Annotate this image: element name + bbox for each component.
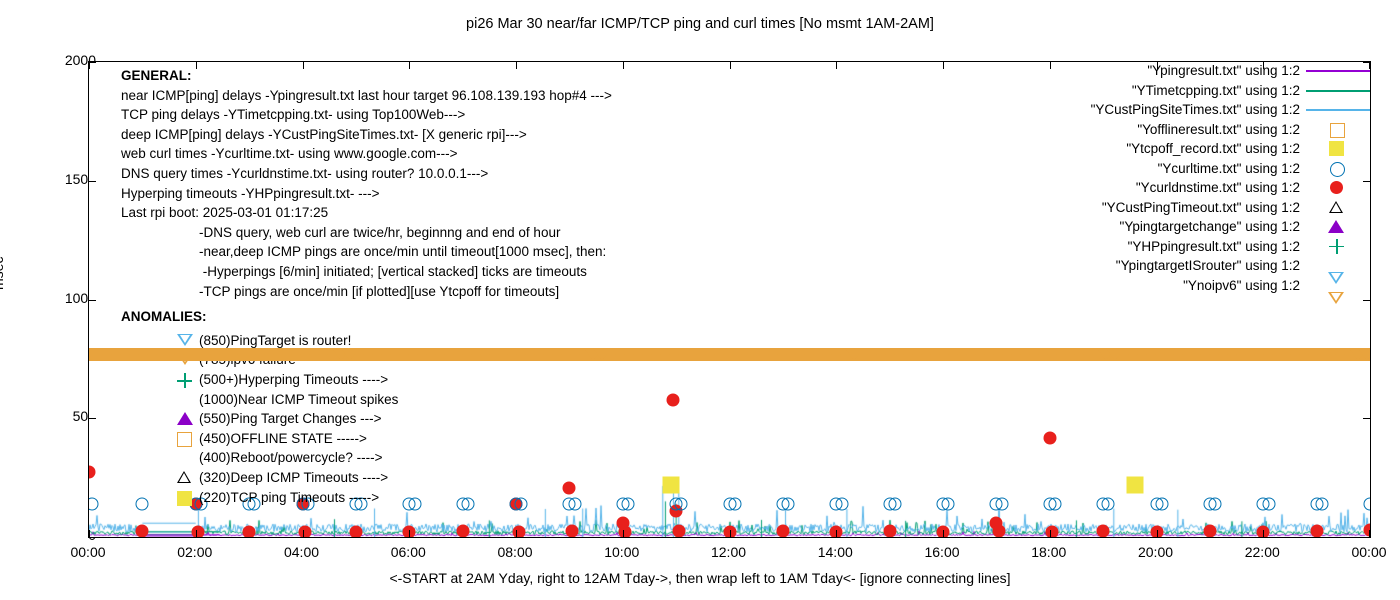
dns-time-point [349,526,362,538]
anomaly-label: (500+)Hyperping Timeouts ----> [199,370,388,390]
general-heading: GENERAL: [121,66,192,86]
curl-time-point [888,497,901,510]
legend-line-icon [1306,90,1370,92]
legend-label: "YpingtargetISrouter" using 1:2 [1116,258,1300,273]
legend-symbol [1300,178,1378,198]
x-tick-mark [303,530,304,537]
curl-time-point [942,497,955,510]
y-tick-mark [1363,300,1370,301]
curl-time-point [408,497,421,510]
legend-line-icon [1306,109,1370,111]
legend-item: "YCustPingSiteTimes.txt" using 1:2 [1048,100,1378,120]
y-tick-mark [89,537,96,538]
legend-label: "Ynoipv6" using 1:2 [1183,278,1300,293]
x-tick-mark [89,62,90,69]
general-line-6: Last rpi boot: 2025-03-01 01:17:25 [121,203,328,223]
dns-time-point [619,525,632,538]
anomalies-heading: ANOMALIES: [121,307,207,327]
dns-time-point [993,525,1006,538]
tcp-timeout-marker [662,476,679,493]
x-tick-mark [623,530,624,537]
square-filled-yellow-icon [177,491,192,506]
square-open-orange-icon [177,432,192,447]
y-tick-mark [89,300,96,301]
anomaly-label: (1000)Near ICMP Timeout spikes [199,390,398,410]
curl-time-point [782,497,795,510]
y-tick-mark [89,62,96,63]
anomaly-item: (400)Reboot/powercycle? ----> [189,448,382,468]
general-line-2: deep ICMP[ping] delays -YCustPingSiteTim… [121,125,527,145]
triangle-up-purple-icon [177,412,193,425]
noipv6-marker [1367,348,1371,361]
legend-item: "Ycurltime.txt" using 1:2 [1048,159,1378,179]
x-tick-mark [89,530,90,537]
x-tick-mark [1157,530,1158,537]
curl-time-point [515,497,528,510]
curl-time-point [1155,497,1168,510]
legend-symbol [1300,276,1378,296]
triangle-up-filled-icon [1328,220,1344,233]
legend: "Ypingresult.txt" using 1:2"YTimetcpping… [1048,61,1378,295]
general-line-1: TCP ping delays -YTimetcpping.txt- using… [121,105,465,125]
anomaly-label: (450)OFFLINE STATE -----> [199,429,367,449]
x-tick-label: 20:00 [1138,544,1173,560]
legend-item: "YTimetcpping.txt" using 1:2 [1048,81,1378,101]
legend-item: "Ypingresult.txt" using 1:2 [1048,61,1378,81]
x-tick-label: 18:00 [1031,544,1066,560]
curl-time-point [835,497,848,510]
legend-label: "YCustPingTimeout.txt" using 1:2 [1102,200,1300,215]
triangle-down-orange-icon [1328,292,1344,304]
dns-time-point [1203,525,1216,538]
legend-label: "YCustPingSiteTimes.txt" using 1:2 [1091,102,1300,117]
legend-item: "Ycurldnstime.txt" using 1:2 [1048,178,1378,198]
x-tick-label: 08:00 [497,544,532,560]
dns-time-point [512,525,525,538]
dns-time-point [1097,525,1110,538]
curl-time-point [675,497,688,510]
curl-time-point [1209,497,1222,510]
general-line-0: near ICMP[ping] delays -Ypingresult.txt … [121,86,612,106]
curl-time-point [461,497,474,510]
x-tick-mark [730,62,731,69]
dns-time-point [667,394,680,407]
anomaly-label: (320)Deep ICMP Timeouts ----> [199,468,388,488]
x-tick-label: 04:00 [284,544,319,560]
x-tick-mark [196,530,197,537]
curl-time-point [1315,497,1328,510]
legend-label: "Ytcpoff_record.txt" using 1:2 [1126,141,1300,156]
legend-symbol [1300,81,1378,101]
x-tick-label: 00:00 [70,544,105,560]
dns-time-point [192,525,205,538]
anomaly-item: (550)Ping Target Changes ---> [189,409,381,429]
x-tick-label: 00:00 [1351,544,1386,560]
x-tick-label: 12:00 [711,544,746,560]
dns-time-point [672,525,685,538]
y-tick-label: 0 [36,527,96,543]
x-tick-mark [516,530,517,537]
dns-time-point [243,526,256,538]
dns-time-point [299,525,312,538]
square-filled-icon [1329,141,1344,156]
triangle-up-black-icon [177,471,191,483]
dns-time-point [1310,525,1323,538]
dns-time-point [566,525,579,538]
page-title: pi26 Mar 30 near/far ICMP/TCP ping and c… [0,16,1400,32]
y-tick-label: 500 [36,408,96,424]
x-tick-mark [623,62,624,69]
circle-filled-icon [1330,181,1343,194]
y-tick-label: 2000 [36,52,96,68]
legend-label: "YTimetcpping.txt" using 1:2 [1132,83,1300,98]
x-tick-label: 14:00 [818,544,853,560]
legend-item: "YpingtargetISrouter" using 1:2 [1048,256,1378,276]
curl-time-point [622,497,635,510]
x-tick-label: 10:00 [604,544,639,560]
curl-time-point [136,497,149,510]
legend-label: "Yofflineresult.txt" using 1:2 [1137,122,1300,137]
dns-time-point [1043,432,1056,445]
general-note-1: -near,deep ICMP pings are once/min until… [199,242,606,262]
x-tick-mark [409,530,410,537]
anomaly-item: (320)Deep ICMP Timeouts ----> [189,468,388,488]
x-tick-label: 02:00 [177,544,212,560]
curl-time-point [995,497,1008,510]
y-tick-mark [1363,418,1370,419]
chart-page: pi26 Mar 30 near/far ICMP/TCP ping and c… [0,0,1400,600]
x-tick-label: 06:00 [391,544,426,560]
x-tick-mark [836,530,837,537]
dns-time-point [1046,525,1059,538]
legend-line-icon [1306,70,1370,72]
legend-item: "Yofflineresult.txt" using 1:2 [1048,120,1378,140]
x-axis-label: <-START at 2AM Yday, right to 12AM Tday-… [0,570,1400,586]
anomaly-label: (550)Ping Target Changes ---> [199,409,381,429]
anomaly-item: (500+)Hyperping Timeouts ----> [189,370,388,390]
anomaly-label: (400)Reboot/powercycle? ----> [199,448,382,468]
dns-time-point [456,525,469,538]
legend-symbol [1300,120,1378,140]
legend-item: "YHPpingresult.txt" using 1:2 [1048,237,1378,257]
x-tick-mark [409,62,410,69]
curl-time-point [728,497,741,510]
x-tick-mark [1263,530,1264,537]
y-tick-mark [89,181,96,182]
x-tick-mark [516,62,517,69]
dns-time-point [776,525,789,538]
x-tick-mark [943,62,944,69]
y-tick-mark [1363,537,1370,538]
anomaly-item: (1000)Near ICMP Timeout spikes [189,390,398,410]
x-tick-mark [943,530,944,537]
dns-time-point [136,525,149,538]
legend-label: "YHPpingresult.txt" using 1:2 [1128,239,1300,254]
general-note-2: -Hyperpings [6/min] initiated; [vertical… [199,262,587,282]
anomaly-item: (220)TCP ping Timeouts -----> [189,488,379,508]
general-line-5: Hyperping timeouts -YHPpingresult.txt- -… [121,184,379,204]
x-tick-label: 22:00 [1245,544,1280,560]
x-tick-label: 16:00 [924,544,959,560]
legend-label: "Ycurldnstime.txt" using 1:2 [1136,180,1300,195]
y-tick-mark [89,418,96,419]
curl-time-point [1364,497,1372,510]
dns-time-point [883,525,896,538]
legend-label: "Ypingtargetchange" using 1:2 [1120,219,1300,234]
curl-time-point [1262,497,1275,510]
circle-open-icon [1330,162,1345,177]
legend-item: "Ynoipv6" using 1:2 [1048,276,1378,296]
general-line-3: web curl times -Ycurltime.txt- using www… [121,144,457,164]
tcp-timeout-marker [1127,476,1144,493]
y-tick-label: 1500 [36,171,96,187]
legend-symbol [1300,61,1378,81]
curl-time-point [568,497,581,510]
legend-symbol [1300,159,1378,179]
legend-symbol [1300,198,1378,218]
x-tick-mark [730,530,731,537]
x-tick-mark [196,62,197,69]
general-note-0: -DNS query, web curl are twice/hr, begin… [199,223,560,243]
triangle-up-open-icon [1329,201,1343,213]
general-line-4: DNS query times -Ycurldnstime.txt- using… [121,164,488,184]
general-note-3: -TCP pings are once/min [if plotted][use… [199,282,559,302]
x-tick-mark [303,62,304,69]
legend-item: "Ytcpoff_record.txt" using 1:2 [1048,139,1378,159]
curl-time-point [1049,497,1062,510]
x-tick-mark [1369,530,1370,537]
anomaly-label: (220)TCP ping Timeouts -----> [199,488,379,508]
y-tick-label: 1000 [36,290,96,306]
legend-item: "Ypingtargetchange" using 1:2 [1048,217,1378,237]
legend-symbol [1300,139,1378,159]
curl-time-point [1102,497,1115,510]
legend-symbol [1300,100,1378,120]
x-tick-mark [1050,530,1051,537]
legend-item: "YCustPingTimeout.txt" using 1:2 [1048,198,1378,218]
legend-symbol [1300,217,1378,237]
legend-symbol [1300,256,1378,276]
y-axis-label: msec [0,257,6,290]
legend-label: "Ycurltime.txt" using 1:2 [1158,161,1300,176]
anomaly-item: (450)OFFLINE STATE -----> [189,429,367,449]
dns-time-point [563,482,576,495]
triangle-down-blue-icon [177,334,193,346]
legend-label: "Ypingresult.txt" using 1:2 [1147,63,1300,78]
square-open-icon [1330,123,1345,138]
x-tick-mark [836,62,837,69]
legend-symbol [1300,237,1378,257]
